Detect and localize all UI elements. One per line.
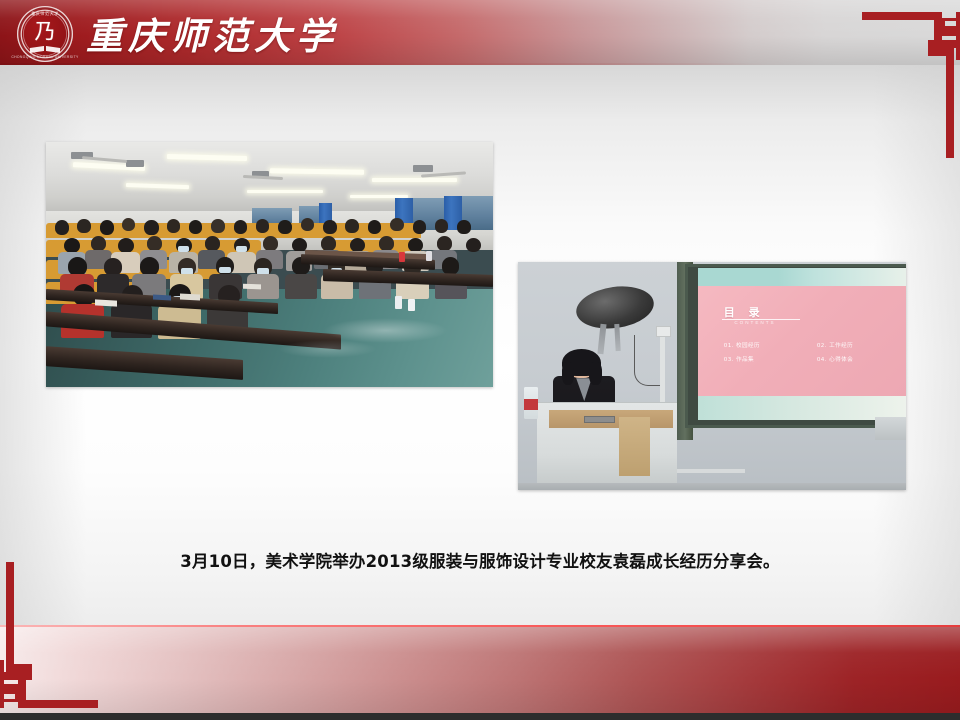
projection-screen: 目 录 CONTENTS 01. 校园经历 02. 工作经历 03. 作品集 0… [698,268,906,421]
corner-ornament-bottom-left-icon [0,560,110,720]
slide-top-band [698,268,906,286]
slide-caption: 3月10日，美术学院举办2013级服装与服饰设计专业校友袁磊成长经历分享会。 [0,548,960,572]
slide-item-3: 03. 作品集 [724,355,754,363]
floor-line [518,483,906,490]
corner-ornament-top-right-icon [850,0,960,160]
slide-title: 目 录 [724,304,765,320]
lecture-hall-scene [46,142,493,387]
right-side-object [875,417,906,440]
university-name-title: 重庆师范大学 [86,6,338,60]
slide-subtitle: CONTENTS [734,320,775,325]
header-underline [0,63,960,65]
footer-base-strip [0,713,960,720]
speaker-scene: 目 录 CONTENTS 01. 校园经历 02. 工作经历 03. 作品集 0… [518,262,906,490]
slide-item-1: 01. 校园经历 [724,341,760,349]
speaker-hair-left [562,362,574,385]
photo-speaker-podium: 目 录 CONTENTS 01. 校园经历 02. 工作经历 03. 作品集 0… [518,262,906,490]
podium-side-panel [619,417,650,476]
emblem-ring-text-top: 重庆师范大学 [31,11,59,17]
emblem-ring-text-bottom: CHONGQING NORMAL UNIVERSITY [11,55,78,59]
slide-body: 目 录 CONTENTS 01. 校园经历 02. 工作经历 03. 作品集 0… [698,286,906,396]
footer-band-sheen [0,627,960,713]
slide-item-2: 02. 工作经历 [817,341,853,349]
emblem-inner: 重庆师范大学 乃 CHONGQING NORMAL UNIVERSITY [17,6,73,62]
power-cable [634,335,662,386]
slide-item-4: 04. 心得体会 [817,355,853,363]
slide-root: 重庆师范大学 乃 CHONGQING NORMAL UNIVERSITY 重庆师… [0,0,960,720]
podium-plate [584,416,615,423]
emblem-center-mark: 乃 [35,22,56,43]
photo-lecture-hall [46,142,493,387]
water-bottle-label [524,399,538,410]
speaker-hair-right [589,362,601,385]
university-emblem-icon: 重庆师范大学 乃 CHONGQING NORMAL UNIVERSITY [17,6,73,62]
